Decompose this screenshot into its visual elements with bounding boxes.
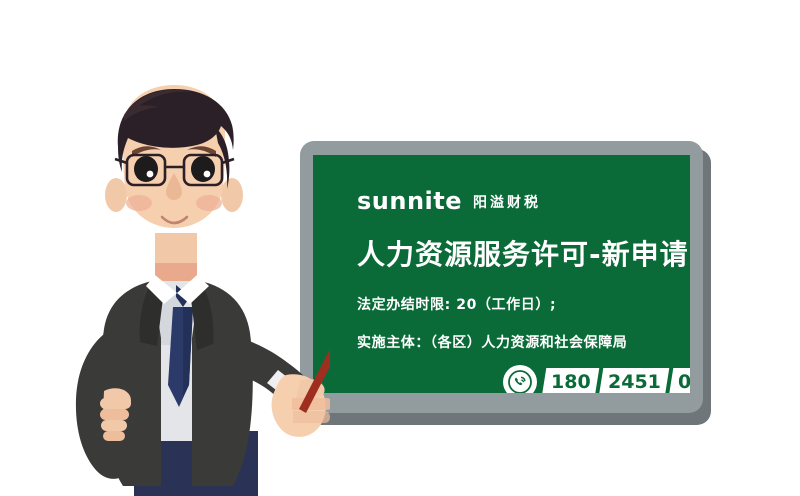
board-title: 人力资源服务许可-新申请: [357, 239, 689, 271]
businessman-illustration: [0, 85, 330, 496]
phone-ring-icon: [503, 365, 537, 393]
phone-segment-3: 0833: [668, 368, 690, 394]
brand-logo-chinese-name: 阳溢财税: [473, 195, 541, 211]
phone-segment-2: 2451: [598, 368, 668, 394]
board-detail-line-authority: 实施主体：（各区）人力资源和社会保障局: [357, 334, 627, 352]
blackboard-frame: sunnite 阳溢财税 人力资源服务许可-新申请 法定办结时限: 20（工作日…: [300, 141, 703, 413]
contact-phone-strip: 180 2451 0833: [503, 365, 690, 393]
blackboard: sunnite 阳溢财税 人力资源服务许可-新申请 法定办结时限: 20（工作日…: [300, 141, 711, 425]
illustration-canvas: sunnite 阳溢财税 人力资源服务许可-新申请 法定办结时限: 20（工作日…: [0, 0, 800, 496]
board-detail-line-deadline: 法定办结时限: 20（工作日）;: [357, 296, 556, 314]
phone-segment-1-text: 180: [551, 373, 591, 392]
phone-segment-3-text: 0833: [678, 373, 690, 392]
brand-logo: sunnite 阳溢财税: [357, 189, 541, 213]
blackboard-surface: sunnite 阳溢财税 人力资源服务许可-新申请 法定办结时限: 20（工作日…: [313, 155, 690, 393]
brand-logo-mark: sunnite: [357, 189, 462, 213]
phone-segment-2-text: 2451: [608, 373, 661, 392]
phone-segment-1: 180: [542, 368, 599, 394]
